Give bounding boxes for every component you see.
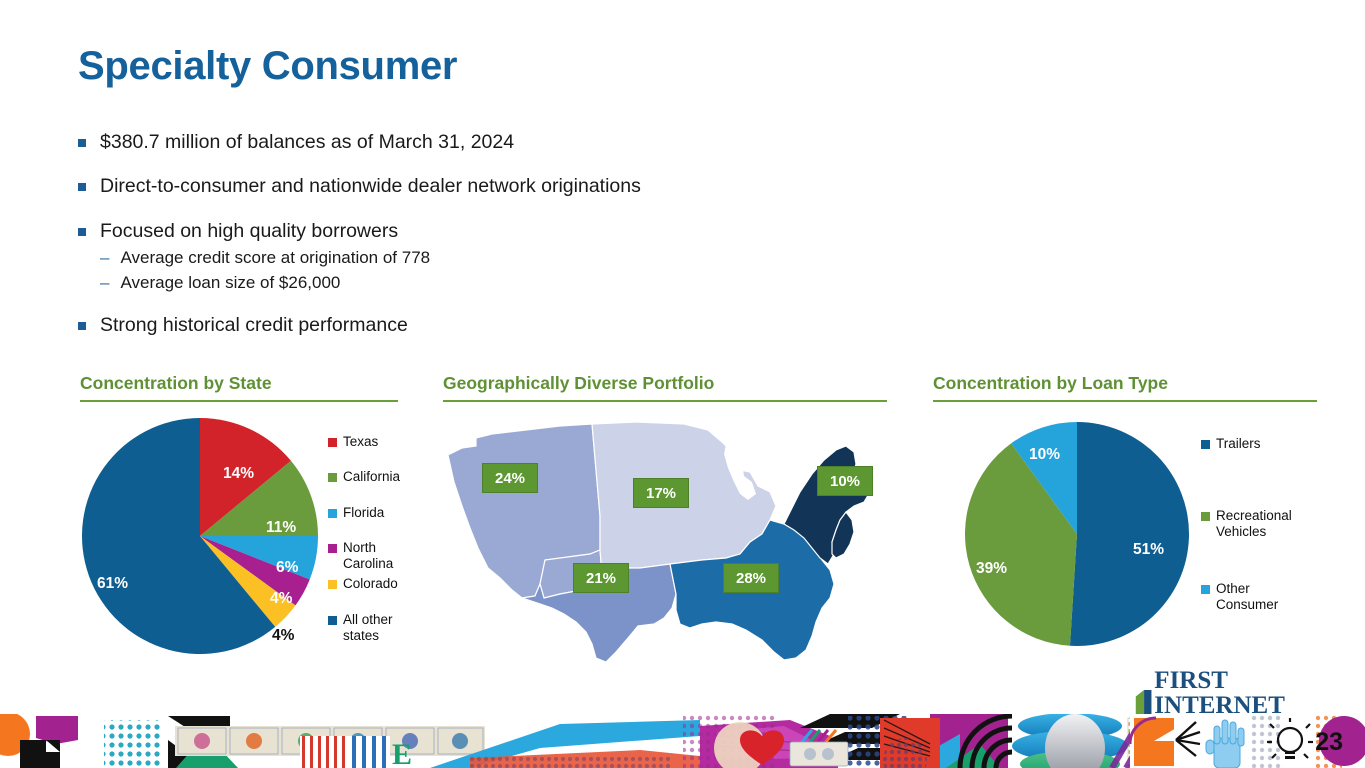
pie-chart-loan-svg: [965, 418, 1190, 650]
sub-bullet-text: Average credit score at origination of 7…: [120, 247, 430, 269]
legend-state: Texas California Florida North Carolina …: [328, 434, 418, 649]
panel-title-state: Concentration by State: [80, 373, 398, 394]
panel-geographically-diverse-portfolio: Geographically Diverse Portfolio: [443, 373, 887, 402]
legend-item-north-carolina[interactable]: North Carolina: [328, 540, 400, 572]
map-callout-southeast: 28%: [723, 563, 779, 593]
pie-slice-label-california: 11%: [266, 519, 296, 537]
panel-concentration-by-state: Concentration by State: [80, 373, 398, 402]
legend-label: Other Consumer: [1216, 581, 1291, 613]
legend-swatch-icon: [328, 509, 337, 518]
sub-bullet-item: – Average loan size of $26,000: [100, 272, 878, 294]
bullet-text: Focused on high quality borrowers: [100, 219, 398, 243]
legend-label: Recreational Vehicles: [1216, 508, 1306, 540]
panel-underline: [443, 400, 887, 402]
map-callout-northeast: 10%: [817, 466, 873, 496]
legend-label: Texas: [343, 434, 378, 450]
slide: Specialty Consumer $380.7 million of bal…: [0, 0, 1365, 768]
legend-item-florida[interactable]: Florida: [328, 505, 384, 521]
legend-swatch-icon: [1201, 585, 1210, 594]
bullet-marker-icon: [78, 322, 86, 330]
legend-item-california[interactable]: California: [328, 469, 400, 485]
pie-slice-label-colorado: 4%: [272, 627, 294, 645]
pie-chart-state: 14% 11% 6% 4% 4% 61% Texas California Fl…: [80, 412, 400, 662]
bullet-item: Strong historical credit performance: [78, 313, 878, 337]
bullet-text: Strong historical credit performance: [100, 313, 408, 337]
map-callout-midwest: 17%: [633, 478, 689, 508]
legend-item-colorado[interactable]: Colorado: [328, 576, 398, 592]
pie-slice-label-texas: 14%: [223, 465, 254, 483]
dash-marker-icon: –: [100, 247, 109, 268]
legend-swatch-icon: [328, 616, 337, 625]
legend-label: Colorado: [343, 576, 398, 592]
bullet-item: $380.7 million of balances as of March 3…: [78, 130, 878, 154]
panel-title-loan: Concentration by Loan Type: [933, 373, 1317, 394]
legend-swatch-icon: [1201, 440, 1210, 449]
svg-text:E: E: [392, 738, 412, 768]
pie-slice-trailers[interactable]: [1070, 422, 1189, 646]
legend-item-all-other-states[interactable]: All other states: [328, 612, 400, 644]
pie-chart-loan-type: 51% 39% 10% Trailers Recreational Vehicl…: [965, 418, 1325, 658]
map-callout-southwest: 21%: [573, 563, 629, 593]
us-map-chart: 24% 17% 21% 28% 10%: [440, 408, 900, 688]
us-map-svg: [440, 408, 900, 688]
bullet-text: $380.7 million of balances as of March 3…: [100, 130, 514, 154]
legend-label: California: [343, 469, 400, 485]
bullet-marker-icon: [78, 139, 86, 147]
legend-swatch-icon: [328, 580, 337, 589]
pie-slice-label-all-other: 61%: [97, 575, 128, 593]
legend-loan-type: Trailers Recreational Vehicles Other Con…: [1201, 436, 1316, 621]
bullet-marker-icon: [78, 228, 86, 236]
legend-item-texas[interactable]: Texas: [328, 434, 378, 450]
bullet-item: Focused on high quality borrowers: [78, 219, 878, 243]
logo-wordmark: FIRST INTERNET: [1154, 668, 1348, 718]
legend-item-other-consumer[interactable]: Other Consumer: [1201, 581, 1291, 613]
pie-slice-label-florida: 6%: [276, 559, 298, 577]
bullet-item: Direct-to-consumer and nationwide dealer…: [78, 174, 878, 198]
company-logo: FIRST INTERNET BANCORP: [1133, 668, 1348, 714]
map-callout-west: 24%: [482, 463, 538, 493]
logo-mark-icon: [1133, 687, 1153, 717]
panel-underline: [933, 400, 1317, 402]
sub-bullet-item: – Average credit score at origination of…: [100, 247, 878, 269]
legend-swatch-icon: [328, 544, 337, 553]
dash-marker-icon: –: [100, 272, 109, 293]
bullet-list: $380.7 million of balances as of March 3…: [78, 130, 878, 358]
legend-label: Trailers: [1216, 436, 1261, 452]
bullet-marker-icon: [78, 183, 86, 191]
page-number: 23: [1315, 728, 1343, 757]
legend-label: North Carolina: [343, 540, 400, 572]
legend-swatch-icon: [328, 473, 337, 482]
legend-swatch-icon: [1201, 512, 1210, 521]
sub-bullet-text: Average loan size of $26,000: [120, 272, 340, 294]
panel-concentration-by-loan-type: Concentration by Loan Type: [933, 373, 1317, 402]
bullet-text: Direct-to-consumer and nationwide dealer…: [100, 174, 641, 198]
pie-slice-label-rv: 39%: [976, 560, 1007, 578]
legend-item-trailers[interactable]: Trailers: [1201, 436, 1261, 452]
page-title: Specialty Consumer: [78, 44, 457, 89]
legend-swatch-icon: [328, 438, 337, 447]
legend-item-recreational-vehicles[interactable]: Recreational Vehicles: [1201, 508, 1306, 540]
pie-slice-label-north-carolina: 4%: [270, 590, 292, 608]
legend-label: All other states: [343, 612, 400, 644]
pie-slice-label-trailers: 51%: [1133, 541, 1164, 559]
pie-slice-label-other: 10%: [1029, 446, 1060, 464]
legend-label: Florida: [343, 505, 384, 521]
panel-underline: [80, 400, 398, 402]
panel-title-map: Geographically Diverse Portfolio: [443, 373, 887, 394]
